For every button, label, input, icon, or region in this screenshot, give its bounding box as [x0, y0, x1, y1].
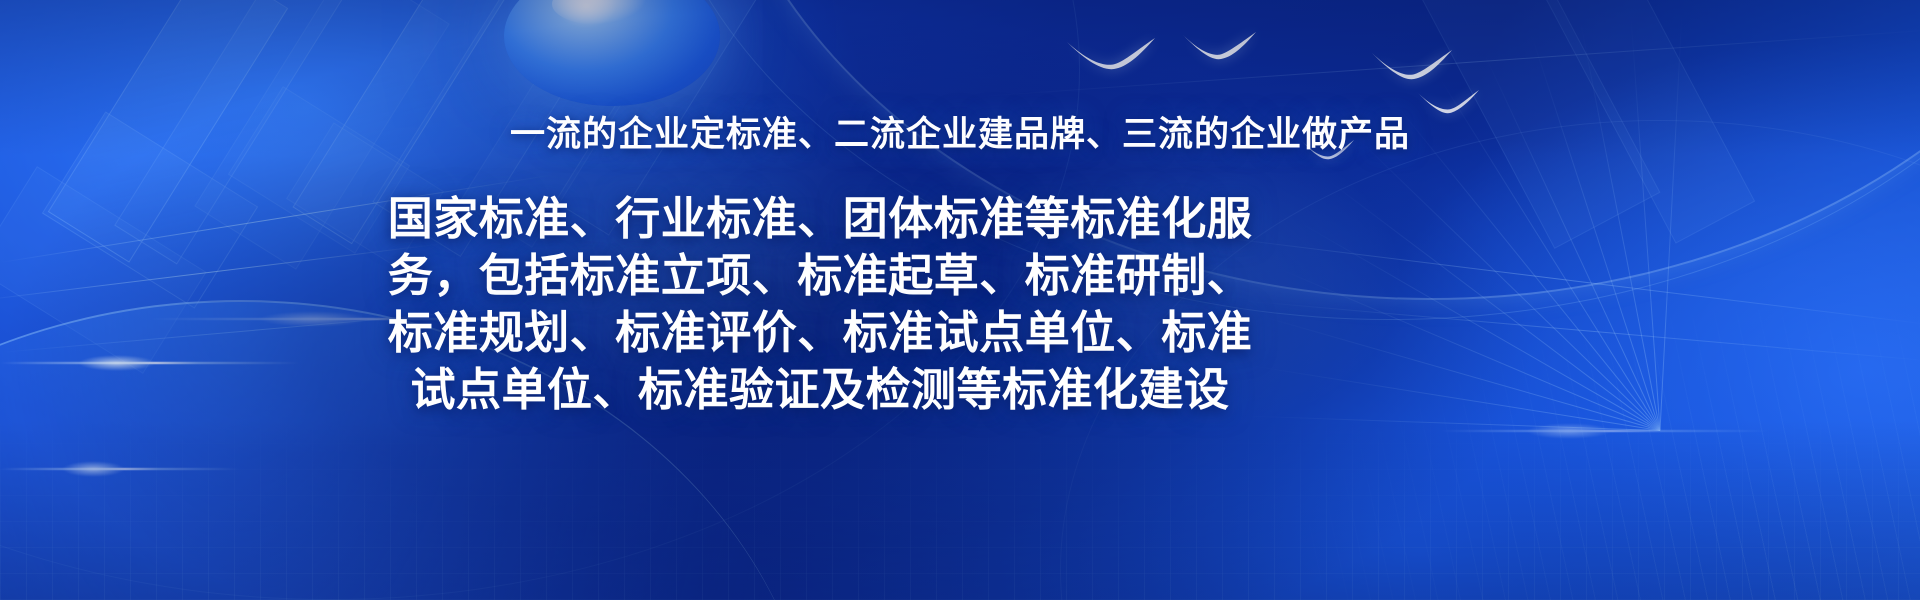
body-line-2: 务，包括标准立项、标准起草、标准研制、 — [310, 247, 1330, 304]
seagull-1-icon — [1065, 36, 1157, 70]
promo-banner: 一流的企业定标准、二流企业建品牌、三流的企业做产品 国家标准、行业标准、团体标准… — [0, 0, 1920, 600]
body-line-4: 试点单位、标准验证及检测等标准化建设 — [310, 361, 1330, 418]
body-line-3: 标准规划、标准评价、标准试点单位、标准 — [310, 304, 1330, 361]
banner-headline: 一流的企业定标准、二流企业建品牌、三流的企业做产品 — [0, 113, 1920, 157]
seagull-4-icon — [1415, 88, 1481, 114]
right-circuit-texture — [1280, 300, 1920, 600]
hero-ellipse-icon — [504, 0, 720, 106]
seagull-2-icon — [1180, 30, 1258, 60]
banner-body-copy: 国家标准、行业标准、团体标准等标准化服 务，包括标准立项、标准起草、标准研制、 … — [310, 190, 1330, 418]
body-line-1: 国家标准、行业标准、团体标准等标准化服 — [310, 190, 1330, 247]
seagull-3-icon — [1370, 48, 1454, 80]
